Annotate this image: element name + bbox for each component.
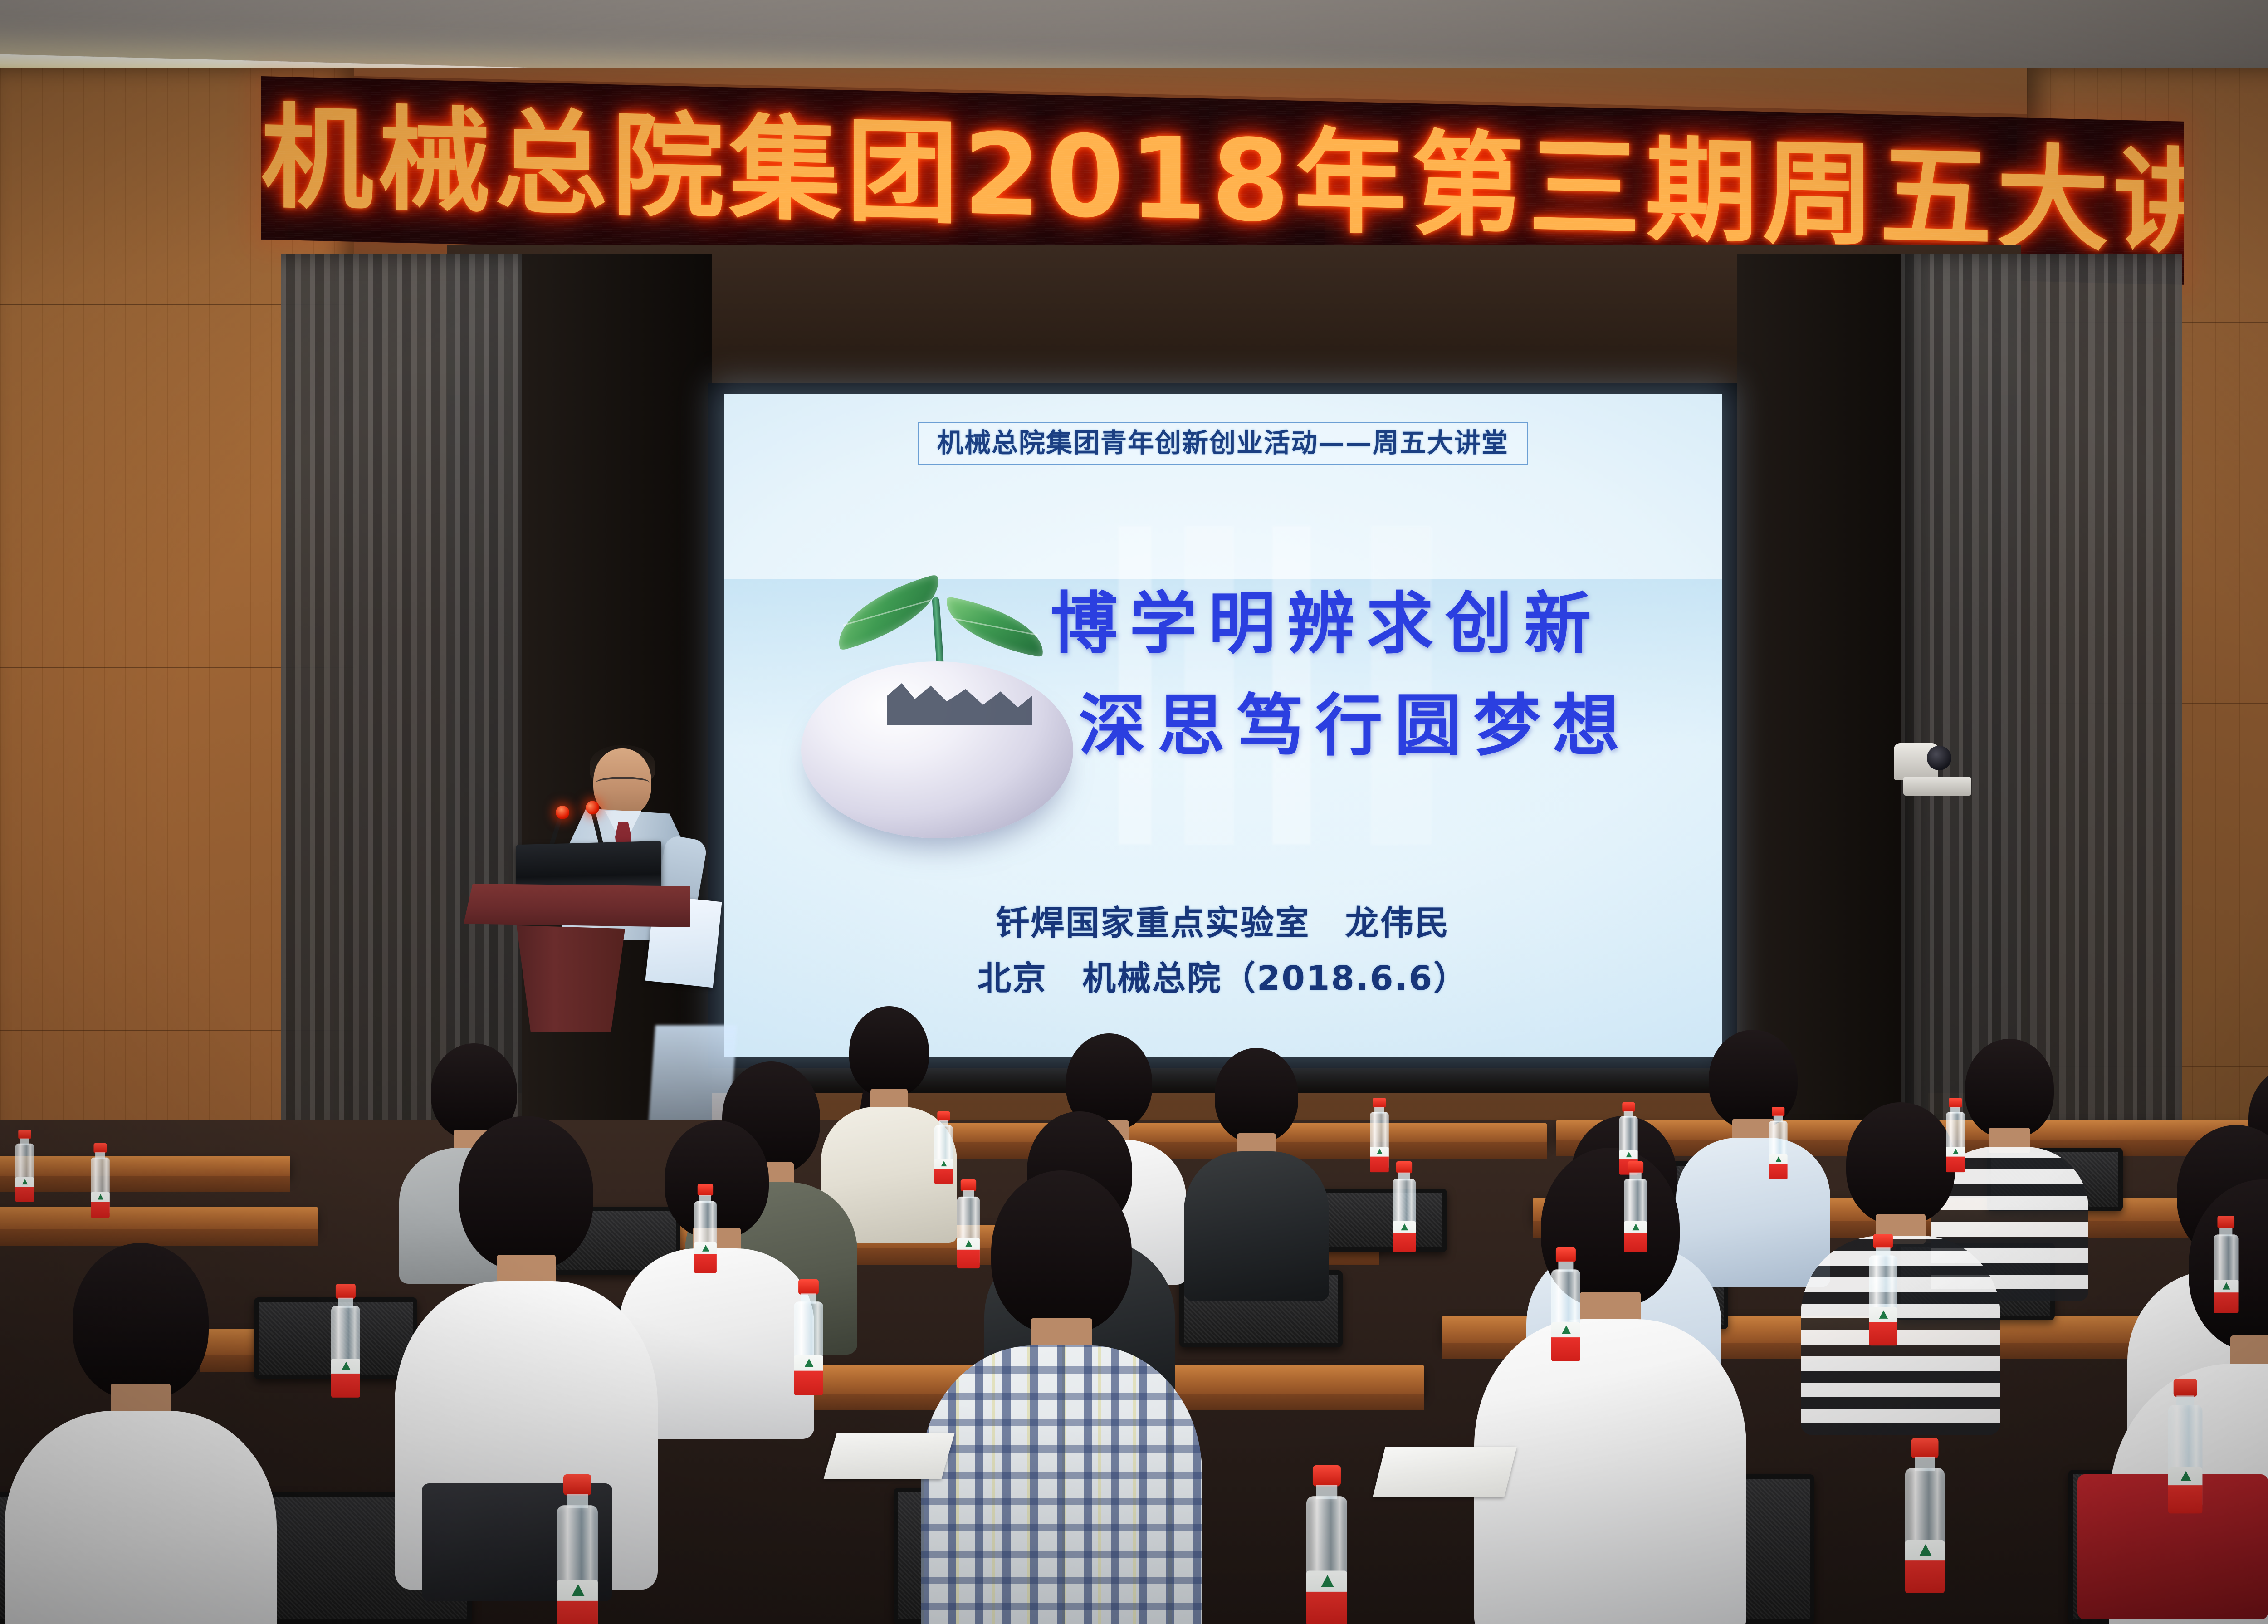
desk-far-left	[0, 1156, 290, 1177]
person-torso	[921, 1345, 1202, 1624]
sprout-leaf-right	[939, 597, 1050, 657]
projection-screen: 机械总院集团青年创新创业活动——周五大讲堂 博学明辨求创新 深思笃行圆梦想 钎焊…	[724, 394, 1722, 1057]
person-head	[1846, 1102, 1955, 1225]
list-item	[408, 1116, 644, 1497]
list-item	[1805, 1102, 1996, 1365]
slide-title-line-2: 深思笃行圆梦想	[1079, 675, 1695, 777]
egg-shell	[801, 661, 1073, 838]
lecture-hall-photo: 机械总院集团2018年第三期周五大讲堂 机械总院集团青年创新创业活动——周五大讲…	[0, 0, 2268, 1624]
podium	[464, 884, 690, 1029]
desk-mid-left	[0, 1207, 318, 1230]
sprout-leaf-left	[828, 574, 950, 651]
curtain-right	[1901, 254, 2182, 1157]
slide-header-text: 机械总院集团青年创新创业活动——周五大讲堂	[937, 430, 1509, 456]
person-head	[849, 1006, 929, 1097]
person-torso	[1184, 1151, 1329, 1301]
paper-sheet	[1373, 1447, 1516, 1497]
list-item	[18, 1243, 263, 1624]
chair[interactable]	[1311, 1189, 1447, 1252]
slide-title-line-1: 博学明辨求创新	[1051, 573, 1695, 675]
curtain-right-dark	[1737, 254, 1928, 1152]
slide-egg-sprout-graphic	[774, 557, 1091, 838]
person-head	[73, 1243, 209, 1399]
person-torso	[1474, 1319, 1746, 1624]
person-torso	[1801, 1236, 2000, 1435]
list-item	[1188, 1048, 1325, 1238]
paper-sheet	[824, 1433, 955, 1479]
person-head	[459, 1116, 593, 1270]
slide-footer: 钎焊国家重点实验室 龙伟民 北京 机械总院（2018.6.6）	[724, 895, 1722, 1006]
ptz-camera-icon	[1903, 737, 1971, 796]
slide-header-box: 机械总院集团青年创新创业活动——周五大讲堂	[918, 422, 1528, 465]
slide-location-line: 北京 机械总院（2018.6.6）	[724, 951, 1722, 1006]
person-head	[1215, 1048, 1298, 1142]
slide-presenter-line: 钎焊国家重点实验室 龙伟民	[724, 895, 1722, 951]
person-torso	[5, 1411, 277, 1624]
list-item	[626, 1120, 807, 1375]
list-item	[1488, 1148, 1733, 1547]
speaker-glasses-icon	[596, 777, 650, 788]
person-head	[991, 1170, 1132, 1334]
camera-lens-icon	[1927, 746, 1951, 770]
person-head	[665, 1120, 769, 1238]
slide-calligraphy: 博学明辨求创新 深思笃行圆梦想	[1051, 573, 1695, 777]
led-banner-text: 机械总院集团2018年第三期周五大讲堂	[261, 102, 2184, 259]
